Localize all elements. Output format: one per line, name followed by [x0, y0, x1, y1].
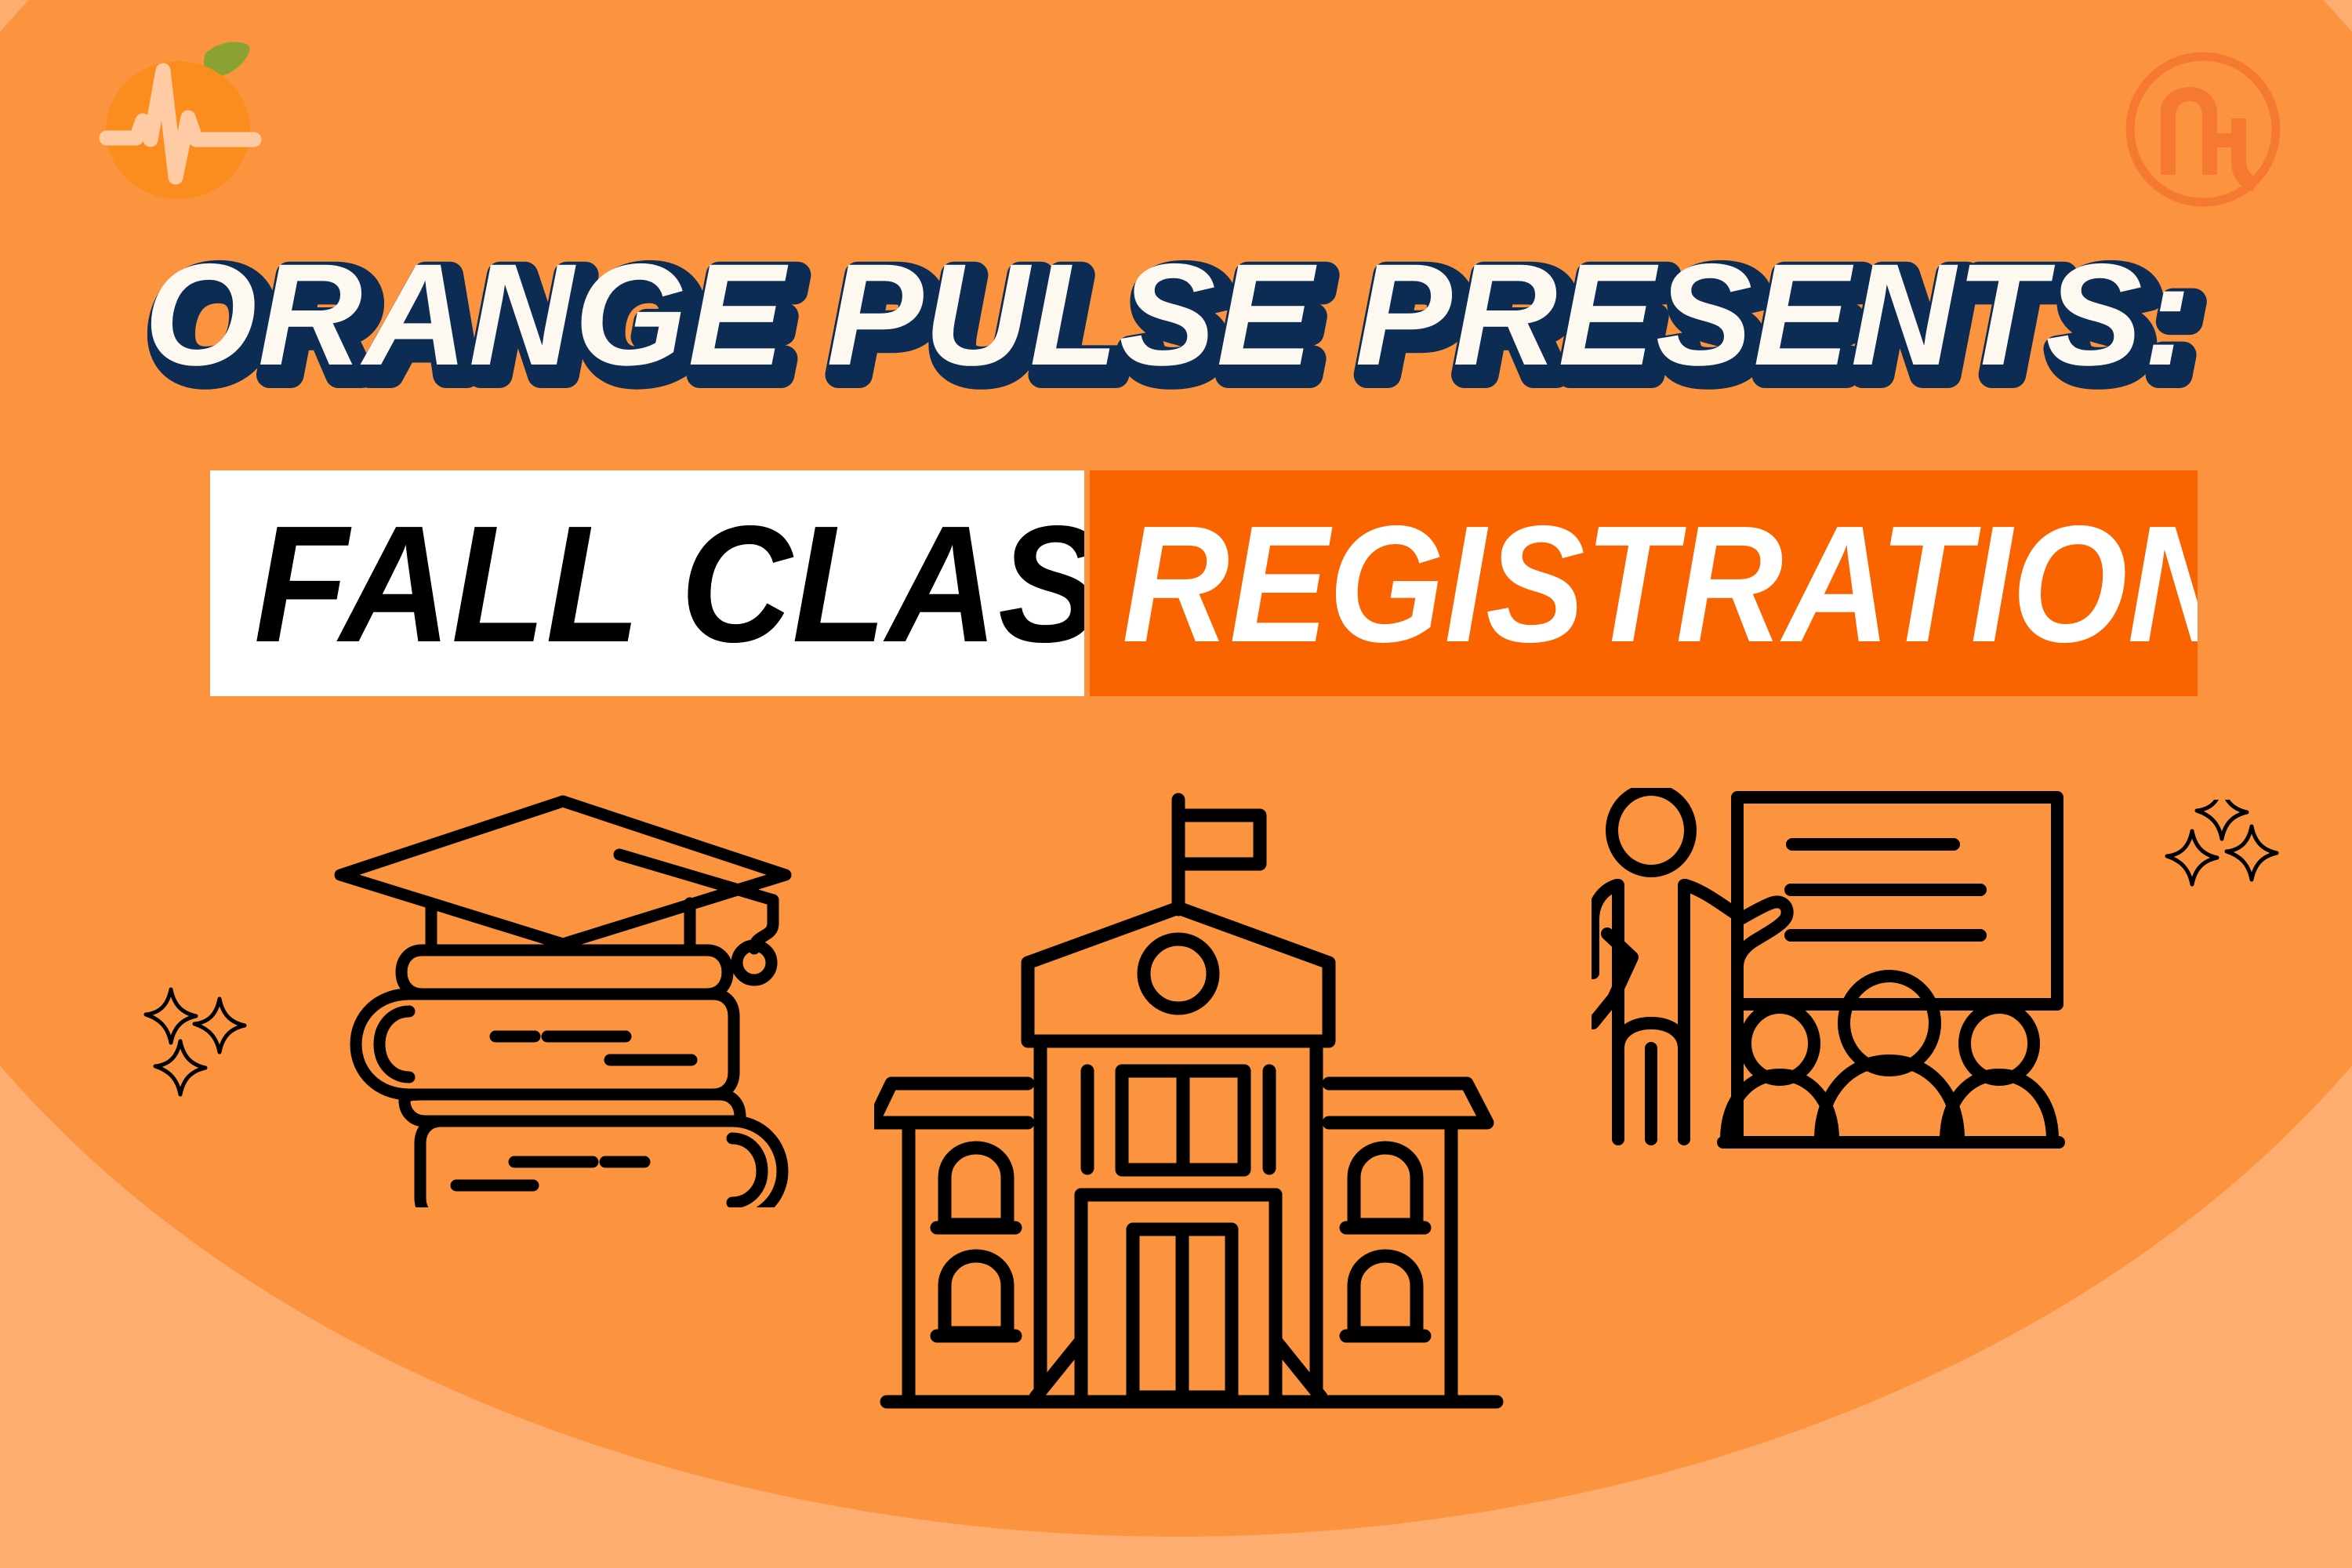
school-building-icon [874, 792, 1509, 1474]
registration-text: REGISTRATION [1122, 491, 2198, 677]
nh-monogram-logo [2117, 43, 2289, 216]
graduation-cap-books-icon [321, 784, 808, 1207]
orange-pulse-logo [88, 24, 268, 204]
poster-canvas: ORANGE PULSE PRESENTS: ORANGE PULSE PRES… [0, 0, 2352, 1568]
four-point-sparkle-icon [2227, 826, 2277, 880]
four-point-sparkle-icon [155, 1041, 205, 1094]
headline: ORANGE PULSE PRESENTS: ORANGE PULSE PRES… [0, 247, 2352, 427]
banner-white-band: FALL CLASS [210, 470, 1084, 696]
banner: FALL CLASS REGISTRATION [210, 470, 2198, 696]
four-point-sparkle-icon [2197, 800, 2247, 839]
icon-row [0, 768, 2352, 1490]
headline-fill-text: ORANGE PULSE PRESENTS: [144, 247, 2192, 396]
sparkle-group-right [2164, 800, 2344, 933]
sparkle-group-left [133, 980, 314, 1137]
four-point-sparkle-icon [194, 999, 245, 1052]
four-point-sparkle-icon [2167, 831, 2217, 884]
banner-orange-band: REGISTRATION [1090, 470, 2198, 696]
four-point-sparkle-icon [146, 989, 196, 1043]
classroom-presentation-icon [1592, 788, 2078, 1156]
fall-class-text: FALL CLASS [254, 492, 1084, 677]
